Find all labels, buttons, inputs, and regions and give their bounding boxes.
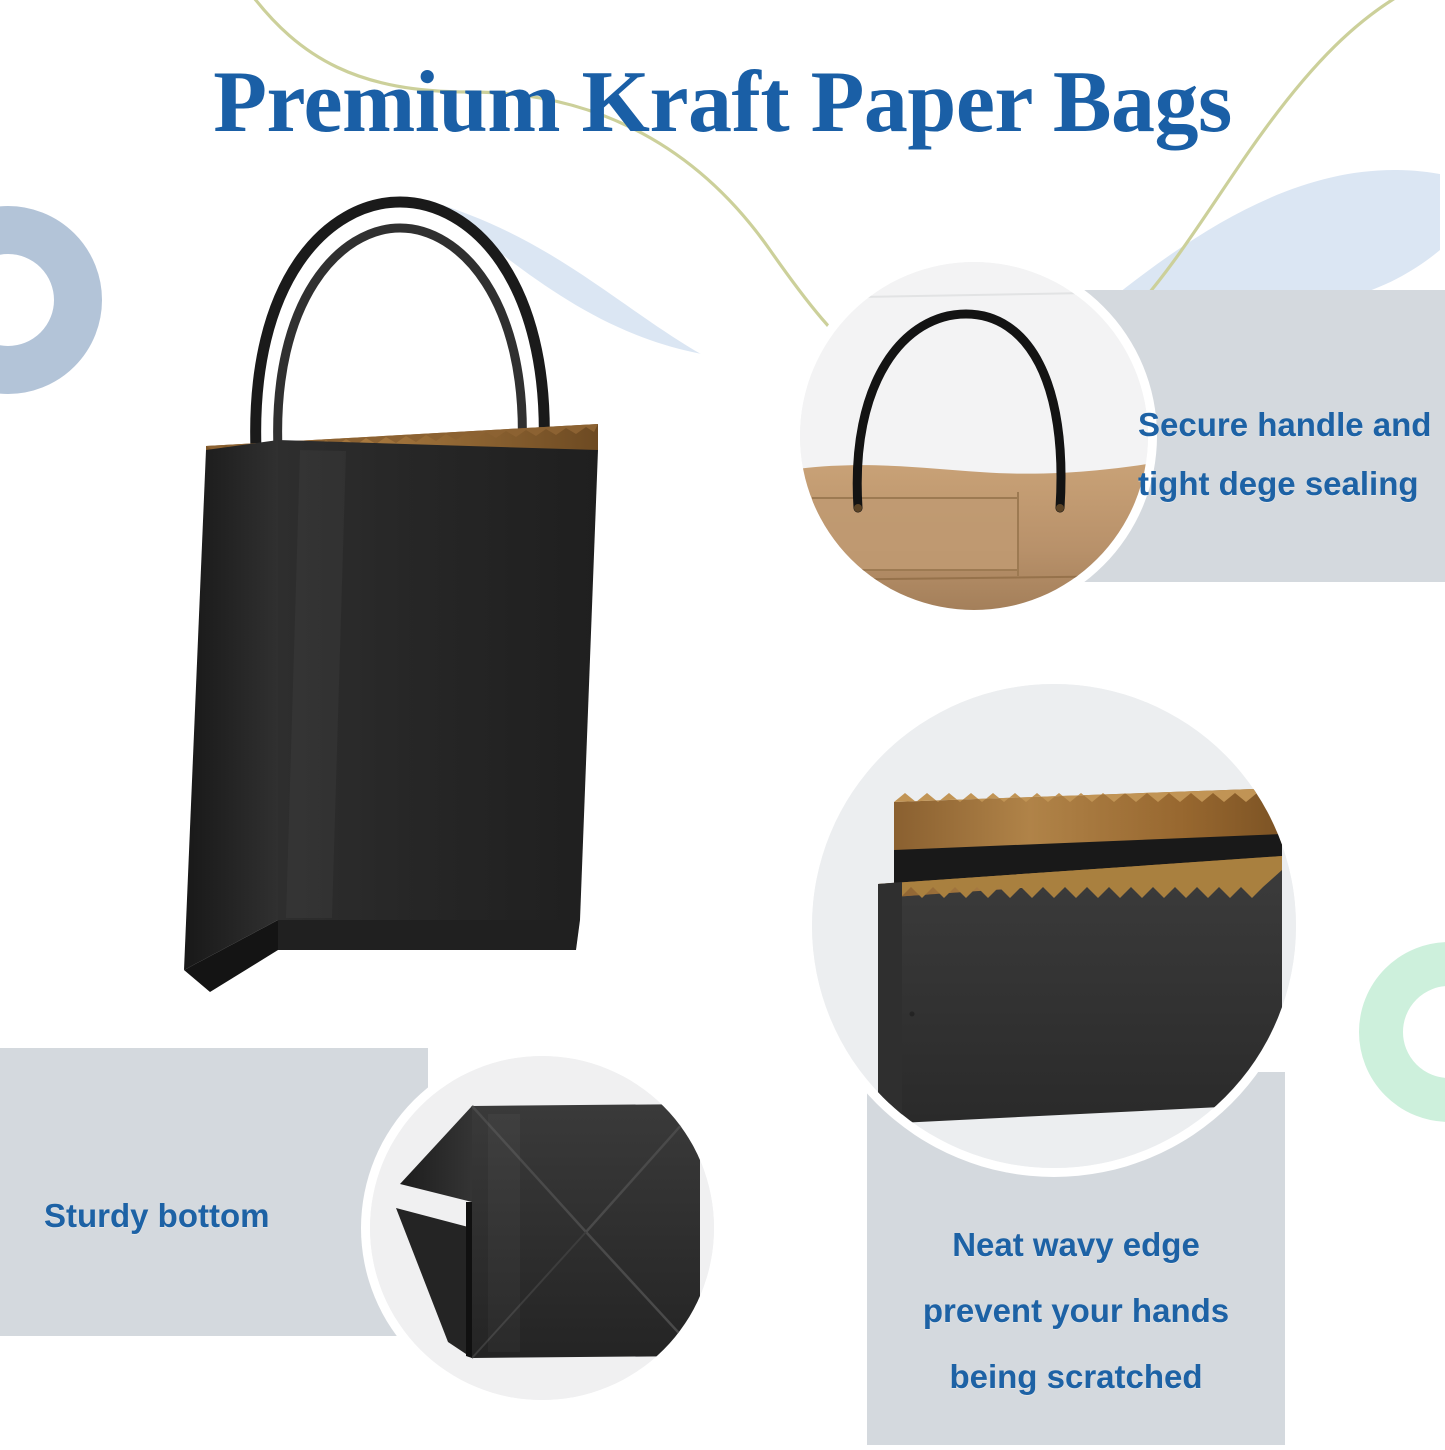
ring-left (0, 230, 78, 370)
caption-line: Secure handle and (1138, 396, 1438, 455)
caption-band-sturdy-bottom (0, 1048, 428, 1336)
feature-photo-secure-handle (800, 262, 1148, 610)
caption-wavy-edge: Neat wavy edge prevent your hands being … (880, 1212, 1272, 1410)
feature-photo-wavy-edge (812, 684, 1296, 1168)
caption-line: being scratched (880, 1344, 1272, 1410)
caption-line: Neat wavy edge (880, 1212, 1272, 1278)
caption-sturdy-bottom: Sturdy bottom (44, 1196, 344, 1236)
hero-product-image (150, 150, 650, 1030)
bag-side-panel (184, 440, 278, 970)
caption-line: Sturdy bottom (44, 1196, 344, 1236)
bag-handle (256, 202, 545, 450)
feature-photo-sturdy-bottom (370, 1056, 714, 1400)
infographic-canvas: Premium Kraft Paper Bags (0, 0, 1445, 1445)
caption-line: tight dege sealing (1138, 455, 1438, 514)
page-title: Premium Kraft Paper Bags (0, 52, 1445, 153)
ring-right (1381, 964, 1445, 1100)
caption-line: prevent your hands (880, 1278, 1272, 1344)
caption-secure-handle: Secure handle and tight dege sealing (1138, 396, 1438, 513)
